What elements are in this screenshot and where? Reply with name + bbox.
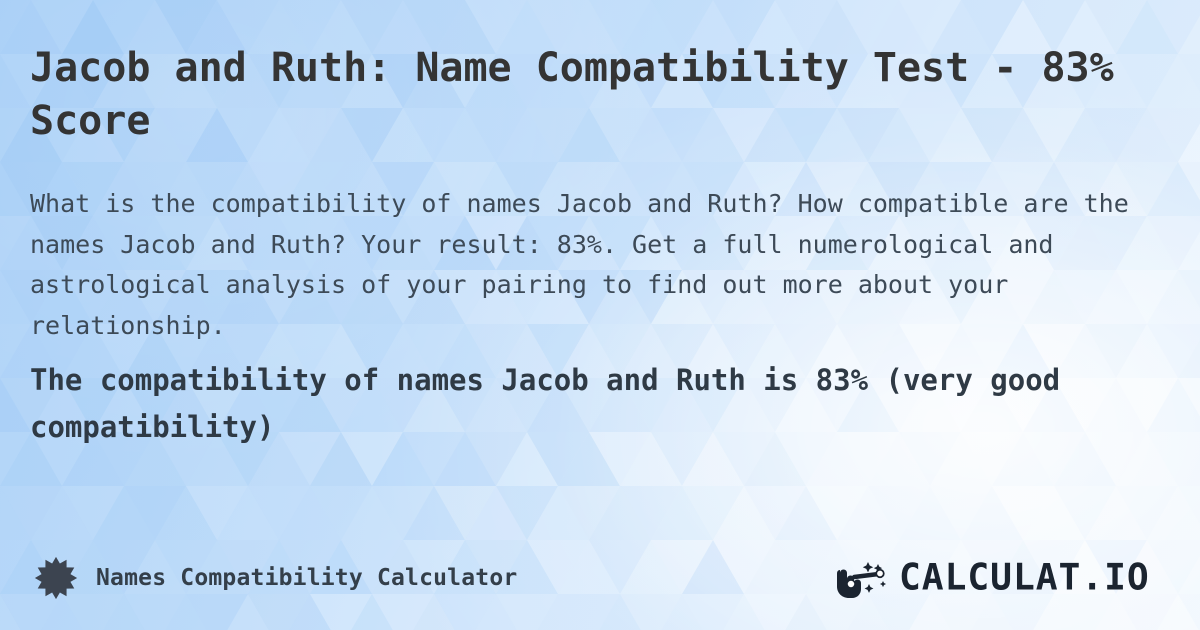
burst-star-icon [34, 556, 78, 600]
tool-branding: Names Compatibility Calculator [34, 556, 517, 600]
card-content: Jacob and Ruth: Name Compatibility Test … [0, 0, 1200, 630]
social-share-card: Jacob and Ruth: Name Compatibility Test … [0, 0, 1200, 630]
page-description: What is the compatibility of names Jacob… [30, 184, 1175, 346]
page-title: Jacob and Ruth: Name Compatibility Test … [30, 42, 1170, 148]
compatibility-result-statement: The compatibility of names Jacob and Rut… [30, 357, 1175, 451]
site-logo[interactable]: CALCULAT.IO [837, 555, 1166, 601]
tool-name-label: Names Compatibility Calculator [96, 565, 517, 591]
logo-wordmark-calculatio: CALCULAT.IO [899, 557, 1166, 599]
svg-text:CALCULAT.IO: CALCULAT.IO [899, 557, 1150, 598]
card-footer: Names Compatibility Calculator [0, 548, 1200, 608]
hand-magic-wand-icon [837, 555, 895, 601]
